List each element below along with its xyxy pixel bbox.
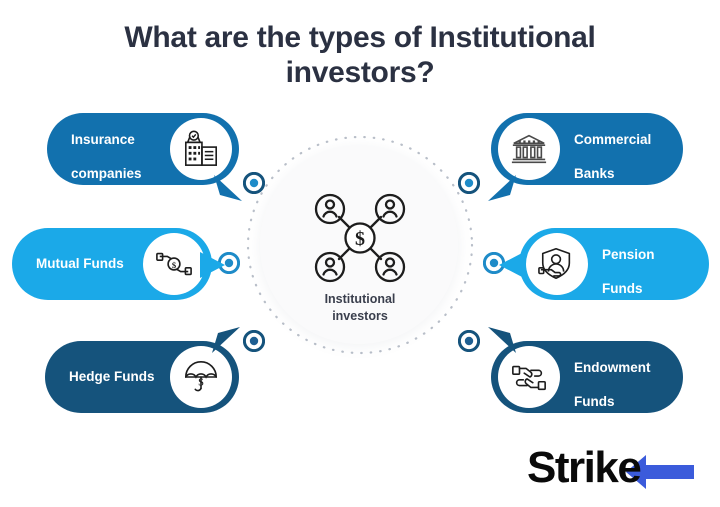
- pill-tail-hedge-funds: [212, 325, 242, 353]
- handshake-with-money-icon: [510, 358, 548, 396]
- pill-hedge-funds[interactable]: Hedge Funds $: [45, 341, 239, 413]
- icon-badge-pension-funds: [526, 233, 588, 295]
- pill-tail-endowment-funds: [486, 325, 516, 353]
- center-label: Institutional investors: [232, 291, 488, 325]
- pill-tail-insurance: [214, 175, 244, 203]
- icon-badge-commercial-banks: [498, 118, 560, 180]
- endowment-label-line-1: Endowment: [574, 360, 651, 375]
- icon-badge-endowment-funds: [498, 346, 560, 408]
- network-of-investors-with-dollar-coin-icon: $: [310, 190, 410, 285]
- commercial-label-line-1: Commercial: [574, 132, 651, 147]
- bank-building-icon: [510, 130, 548, 168]
- insurance-label-line-2: companies: [71, 166, 142, 181]
- pill-pension-funds[interactable]: Pension Funds: [519, 228, 709, 300]
- svg-text:$: $: [355, 228, 365, 250]
- pill-label-endowment-funds: Endowment Funds: [574, 343, 651, 411]
- pill-label-hedge-funds: Hedge Funds: [69, 369, 155, 386]
- pill-commercial-banks[interactable]: Commercial Banks: [491, 113, 683, 185]
- pill-endowment-funds[interactable]: Endowment Funds: [491, 341, 683, 413]
- page-title: What are the types of Institutional inve…: [0, 20, 720, 91]
- icon-badge-insurance: [170, 118, 232, 180]
- pension-label-line-2: Funds: [602, 281, 643, 296]
- pill-tail-pension-funds: [498, 250, 524, 280]
- connector-dot-endowment: [458, 330, 480, 352]
- title-line-2: investors?: [286, 56, 435, 89]
- pill-label-insurance-companies: Insurance companies: [71, 115, 142, 183]
- title-line-1: What are the types of Institutional: [124, 21, 595, 54]
- umbrella-with-dollar-icon: $: [182, 358, 220, 396]
- pill-label-mutual-funds: Mutual Funds: [36, 256, 124, 273]
- svg-text:$: $: [198, 378, 203, 389]
- pill-insurance-companies[interactable]: Insurance companies: [47, 113, 239, 185]
- endowment-label-line-2: Funds: [574, 394, 615, 409]
- connector-dot-hedge: [243, 330, 265, 352]
- center-label-line-2: investors: [332, 309, 388, 323]
- icon-badge-mutual-funds: $: [143, 233, 205, 295]
- connector-dot-insurance: [243, 172, 265, 194]
- insurance-label-line-1: Insurance: [71, 132, 135, 147]
- hands-exchanging-money-icon: $: [155, 245, 193, 283]
- pill-label-commercial-banks: Commercial Banks: [574, 115, 651, 183]
- pension-person-shield-icon: [538, 245, 576, 283]
- center-hub: $ Institutional investors: [232, 128, 488, 360]
- svg-text:$: $: [172, 260, 177, 270]
- connector-dot-commercial: [458, 172, 480, 194]
- pension-label-line-1: Pension: [602, 247, 655, 262]
- insurance-building-shield-icon: [182, 130, 220, 168]
- pill-tail-mutual-funds: [200, 250, 226, 280]
- pill-label-pension-funds: Pension Funds: [602, 230, 655, 298]
- infographic-canvas: What are the types of Institutional inve…: [0, 0, 720, 507]
- commercial-label-line-2: Banks: [574, 166, 615, 181]
- center-label-line-1: Institutional: [325, 292, 396, 306]
- strike-logo-text: Strike: [527, 443, 640, 493]
- strike-logo: Strike: [527, 441, 697, 497]
- icon-badge-hedge-funds: $: [170, 346, 232, 408]
- pill-tail-commercial-banks: [486, 175, 516, 203]
- pill-mutual-funds[interactable]: Mutual Funds $: [12, 228, 212, 300]
